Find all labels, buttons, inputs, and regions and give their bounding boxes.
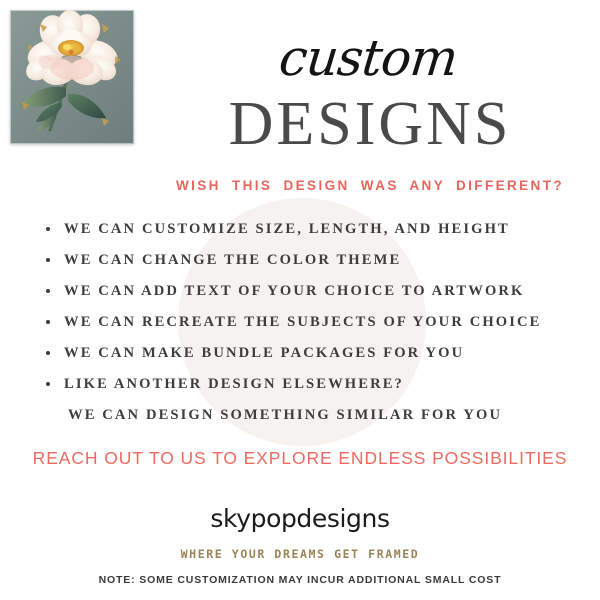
brand-name: skypopdesigns	[0, 504, 600, 533]
list-item-label: WE CAN ADD TEXT OF YOUR CHOICE TO ARTWOR…	[64, 283, 525, 299]
list-item-label: WE CAN CHANGE THE COLOR THEME	[64, 252, 401, 268]
list-item: WE CAN CHANGE THE COLOR THEME	[44, 245, 584, 276]
disclaimer-note: NOTE: SOME CUSTOMIZATION MAY INCUR ADDIT…	[0, 561, 600, 586]
list-item-label: WE CAN MAKE BUNDLE PACKAGES FOR YOU	[64, 345, 464, 361]
list-item: WE CAN CUSTOMIZE SIZE, LENGTH, AND HEIGH…	[44, 214, 584, 245]
list-item-label-continuation: WE CAN DESIGN SOMETHING SIMILAR FOR YOU	[64, 400, 584, 431]
poster-footer: skypopdesigns WHERE YOUR DREAMS GET FRAM…	[0, 504, 600, 586]
subheadline: WISH THIS DESIGN WAS ANY DIFFERENT?	[140, 155, 600, 193]
feature-list: WE CAN CUSTOMIZE SIZE, LENGTH, AND HEIGH…	[44, 214, 584, 431]
list-item: WE CAN ADD TEXT OF YOUR CHOICE TO ARTWOR…	[44, 276, 584, 307]
call-to-action-text: REACH OUT TO US TO EXPLORE ENDLESS POSSI…	[0, 448, 600, 469]
flower-painting-icon	[10, 10, 134, 144]
bullet-dot-icon	[46, 289, 50, 293]
list-item: WE CAN MAKE BUNDLE PACKAGES FOR YOU	[44, 338, 584, 369]
promotional-poster: custom DESIGNS WISH THIS DESIGN WAS ANY …	[0, 0, 600, 600]
floral-painting-thumbnail	[10, 10, 134, 144]
page-title: DESIGNS	[140, 83, 600, 155]
list-item-label: WE CAN RECREATE THE SUBJECTS OF YOUR CHO…	[64, 314, 542, 330]
bullet-dot-icon	[46, 258, 50, 262]
bullet-dot-icon	[46, 382, 50, 386]
list-item: WE CAN RECREATE THE SUBJECTS OF YOUR CHO…	[44, 307, 584, 338]
script-title: custom	[136, 0, 600, 83]
list-item-label: WE CAN CUSTOMIZE SIZE, LENGTH, AND HEIGH…	[64, 221, 510, 237]
brand-tagline: WHERE YOUR DREAMS GET FRAMED	[0, 533, 600, 561]
bullet-dot-icon	[46, 227, 50, 231]
bullet-dot-icon	[46, 320, 50, 324]
bullet-dot-icon	[46, 351, 50, 355]
list-item: LIKE ANOTHER DESIGN ELSEWHERE? WE CAN DE…	[44, 369, 584, 431]
poster-header: custom DESIGNS WISH THIS DESIGN WAS ANY …	[140, 0, 600, 193]
list-item-label: LIKE ANOTHER DESIGN ELSEWHERE?	[64, 376, 404, 392]
